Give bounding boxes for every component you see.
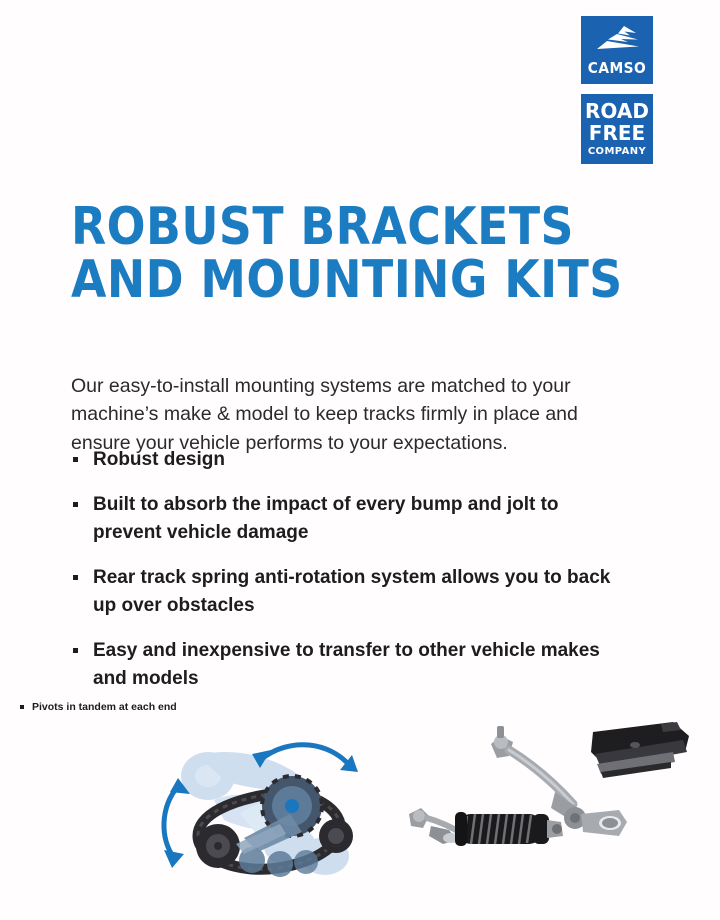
road-free-company-badge: ROAD FREE COMPANY xyxy=(579,92,655,166)
track-system-pivot-diagram xyxy=(140,728,390,888)
bogie-rollers xyxy=(239,847,318,877)
camso-mountain-mark xyxy=(594,25,640,53)
hub-dot xyxy=(285,799,299,813)
camso-wordmark: CAMSO xyxy=(584,59,650,77)
list-item: Easy and inexpensive to transfer to othe… xyxy=(71,637,631,693)
badge-line-company: COMPANY xyxy=(588,147,646,157)
black-mounting-bracket xyxy=(591,722,689,778)
page-title: ROBUST BRACKETS AND MOUNTING KITS xyxy=(71,201,564,307)
idler-wheel-right xyxy=(319,819,353,853)
headline-line-1: ROBUST BRACKETS xyxy=(71,201,564,254)
list-item: Rear track spring anti-rotation system a… xyxy=(71,564,631,620)
list-item: Robust design xyxy=(71,446,631,474)
pivot-arrow-left xyxy=(164,778,190,868)
camso-logo-badge: CAMSO xyxy=(579,14,655,86)
footnote-pivots: Pivots in tandem at each end xyxy=(18,700,177,714)
feature-bullet-list: Robust design Built to absorb the impact… xyxy=(71,446,631,710)
bracket-hardware-photos xyxy=(405,718,705,883)
intro-paragraph: Our easy-to-install mounting systems are… xyxy=(71,372,627,458)
badge-line-road: ROAD xyxy=(585,101,649,121)
idler-wheel-left xyxy=(196,824,240,868)
list-item: Built to absorb the impact of every bump… xyxy=(71,491,631,547)
anti-rotation-spring-rod xyxy=(409,808,563,846)
brand-logo-stack: CAMSO ROAD FREE COMPANY xyxy=(579,14,655,166)
headline-line-2: AND MOUNTING KITS xyxy=(71,254,564,307)
badge-line-free: FREE xyxy=(589,123,645,143)
